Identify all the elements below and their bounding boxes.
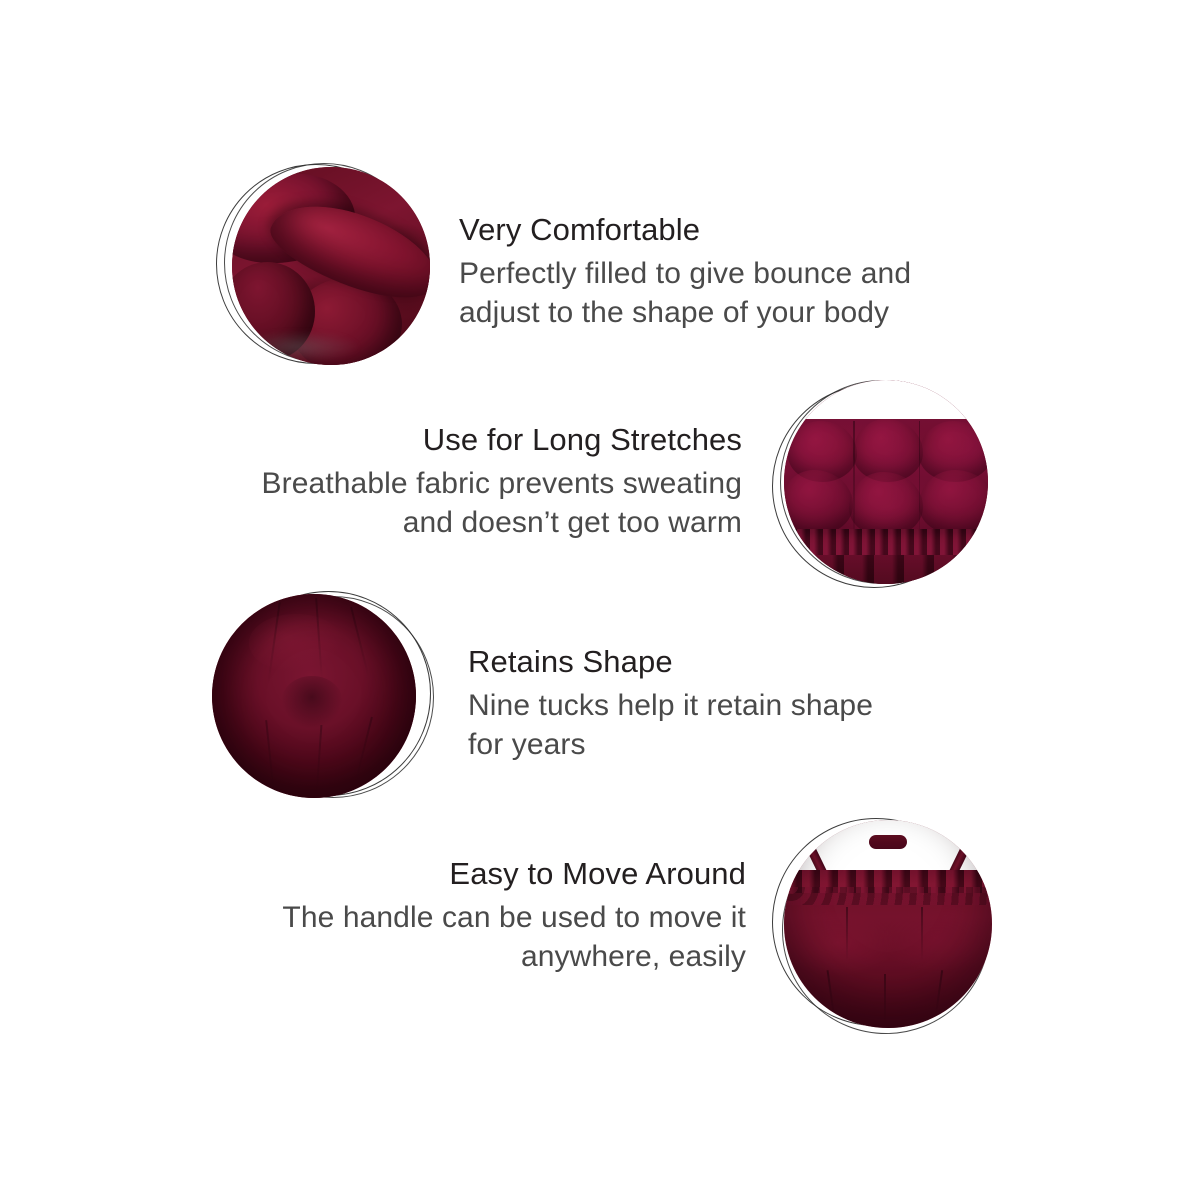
- feature-body: Nine tucks help it retain shape for year…: [468, 686, 968, 764]
- feature-block-easy-to-move-around: Easy to Move Around The handle can be us…: [236, 812, 996, 1040]
- fabric-tuft: [784, 470, 853, 535]
- drop-shadow: [236, 331, 359, 363]
- feature-body: The handle can be used to move it anywhe…: [236, 898, 746, 976]
- feature-body-line: for years: [468, 725, 968, 764]
- feature-copy: Easy to Move Around The handle can be us…: [236, 812, 746, 976]
- cushion-bottom-edge: [784, 555, 988, 584]
- edge-shading: [212, 594, 416, 798]
- feature-block-use-for-long-stretches: Use for Long Stretches Breathable fabric…: [226, 372, 992, 590]
- feature-heading: Very Comfortable: [459, 212, 979, 248]
- feature-block-very-comfortable: Very Comfortable Perfectly filled to giv…: [214, 150, 979, 382]
- gathered-edge-band: [784, 529, 988, 556]
- feature-heading: Retains Shape: [468, 644, 968, 680]
- feature-block-retains-shape: Retains Shape Nine tucks help it retain …: [212, 586, 968, 804]
- product-feature-infographic: Very Comfortable Perfectly filled to giv…: [0, 0, 1200, 1200]
- edge-shading: [784, 820, 992, 1028]
- photo-circle-mask: [784, 820, 992, 1028]
- feature-body-line: and doesn’t get too warm: [226, 503, 742, 542]
- fabric-illustration: [232, 167, 430, 365]
- fabric-illustration: [784, 380, 988, 584]
- cushion-breathable-fabric-photo: [772, 372, 992, 590]
- feature-heading: Easy to Move Around: [236, 856, 746, 892]
- feature-body-line: The handle can be used to move it: [236, 898, 746, 937]
- feature-copy: Retains Shape Nine tucks help it retain …: [468, 586, 968, 764]
- fabric-tuft: [849, 472, 922, 537]
- feature-body-line: adjust to the shape of your body: [459, 293, 979, 332]
- cushion-carry-handle-photo: [772, 812, 996, 1040]
- photo-circle-mask: [232, 167, 430, 365]
- fabric-seam: [919, 421, 921, 539]
- feature-body: Perfectly filled to give bounce and adju…: [459, 254, 979, 332]
- feature-body: Breathable fabric prevents sweating and …: [226, 464, 742, 542]
- feature-copy: Use for Long Stretches Breathable fabric…: [226, 372, 742, 542]
- photo-circle-mask: [784, 380, 988, 584]
- feature-body-line: Perfectly filled to give bounce and: [459, 254, 979, 293]
- feature-body-line: Nine tucks help it retain shape: [468, 686, 968, 725]
- fabric-tuft: [919, 470, 988, 535]
- feature-heading: Use for Long Stretches: [226, 422, 742, 458]
- cushion-round-tufted-photo: [212, 586, 434, 804]
- photo-top-crop: [784, 380, 988, 419]
- feature-body-line: anywhere, easily: [236, 937, 746, 976]
- fabric-seam: [853, 421, 855, 539]
- photo-circle-mask: [212, 594, 416, 798]
- feature-copy: Very Comfortable Perfectly filled to giv…: [459, 150, 979, 332]
- fabric-illustration: [784, 820, 992, 1028]
- feature-body-line: Breathable fabric prevents sweating: [226, 464, 742, 503]
- fabric-illustration: [212, 594, 416, 798]
- cushion-knot-closeup-photo: [214, 150, 434, 382]
